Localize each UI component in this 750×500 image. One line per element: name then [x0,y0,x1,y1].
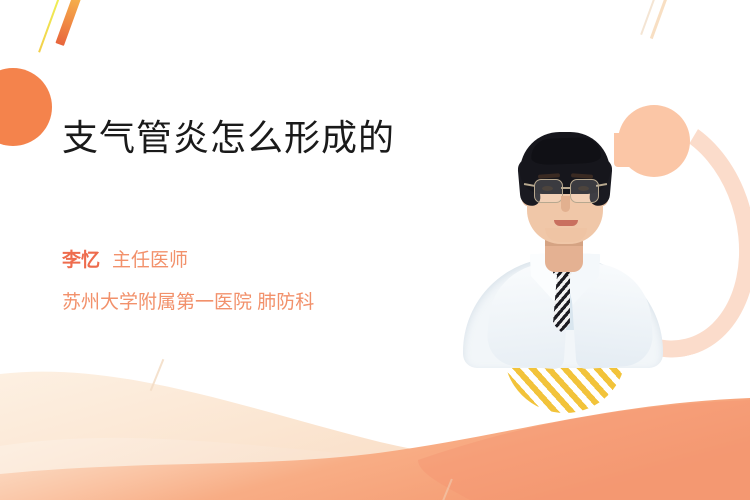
glasses-lens-right [570,179,599,203]
hair-fringe [531,137,602,165]
doctor-affiliation: 苏州大学附属第一医院 肺防科 [62,290,314,316]
faint-slash-icon [150,359,165,391]
orange-circle-decoration [0,68,52,146]
doctor-info-card: 支气管炎怎么形成的 李忆主任医师 苏州大学附属第一医院 肺防科 [0,0,750,500]
orange-slash-icon [55,0,81,46]
wave-light [0,350,750,500]
page-title: 支气管炎怎么形成的 [62,118,412,160]
doctor-portrait [455,110,670,365]
glasses-lens-left [534,179,563,203]
cream-slash-icon-a [650,0,669,39]
glasses-bridge [561,187,570,189]
wave-cream-mid [0,392,750,500]
doctor-title: 主任医师 [112,250,188,271]
doctor-byline: 李忆主任医师 [62,248,188,274]
yellow-slash-icon [38,0,60,53]
nose [561,196,570,212]
doctor-name: 李忆 [62,250,100,271]
faint-slash-icon-2 [441,479,453,500]
wave-salmon [0,398,750,500]
mouth [554,220,578,226]
